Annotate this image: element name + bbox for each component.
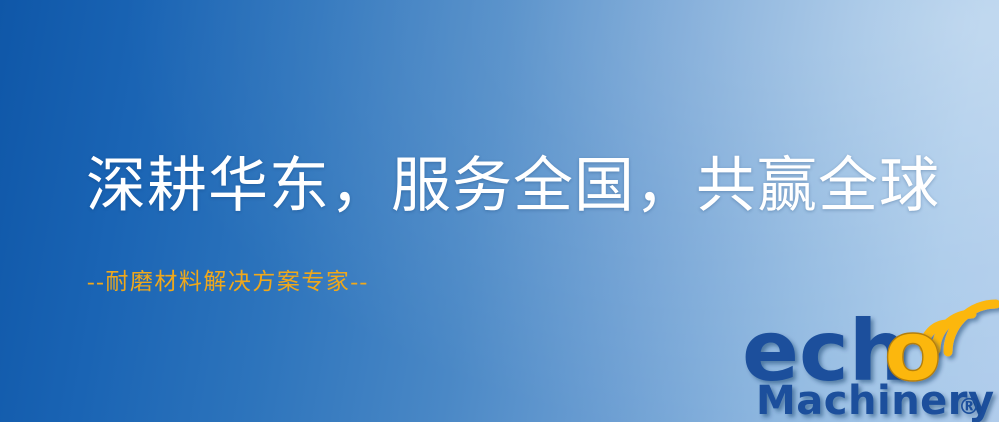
echo-machinery-logo[interactable]: ech o Machinery ®	[742, 296, 994, 422]
banner-subtitle: --耐磨材料解决方案专家--	[87, 268, 369, 296]
hero-banner: 深耕华东，服务全国，共赢全球 --耐磨材料解决方案专家-- ech o Mach…	[0, 0, 999, 422]
banner-headline: 深耕华东，服务全国，共赢全球	[86, 155, 940, 218]
logo-trademark-icon: ®	[958, 395, 980, 420]
